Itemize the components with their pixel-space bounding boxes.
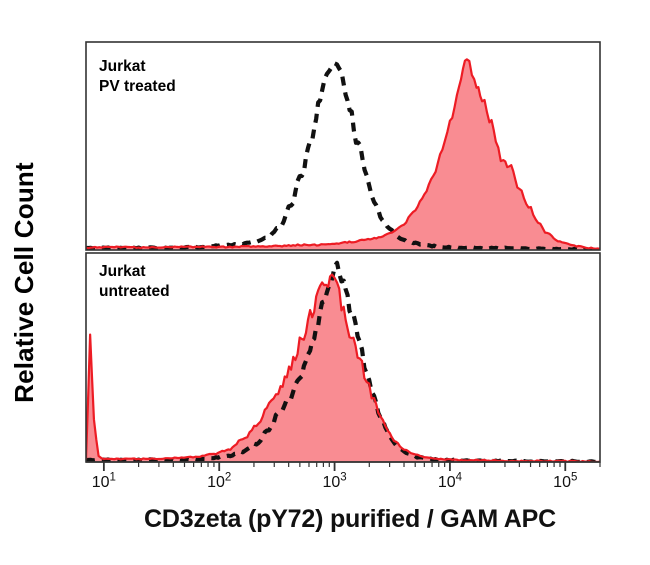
panel-top-label: JurkatPV treated [99,57,176,98]
x-tick-label: 101 [92,474,116,492]
panel-label-line1: Jurkat [99,262,170,282]
x-tick-label: 103 [322,474,346,492]
x-tick-label: 104 [438,474,462,492]
panel-label-line2: untreated [99,282,170,302]
panel-label-line1: Jurkat [99,57,176,77]
panel-label-line2: PV treated [99,77,176,97]
x-tick-label: 102 [207,474,231,492]
panel-bottom-label: Jurkatuntreated [99,262,170,303]
x-axis-label: CD3zeta (pY72) purified / GAM APC [60,505,640,534]
x-tick-label: 105 [553,474,577,492]
